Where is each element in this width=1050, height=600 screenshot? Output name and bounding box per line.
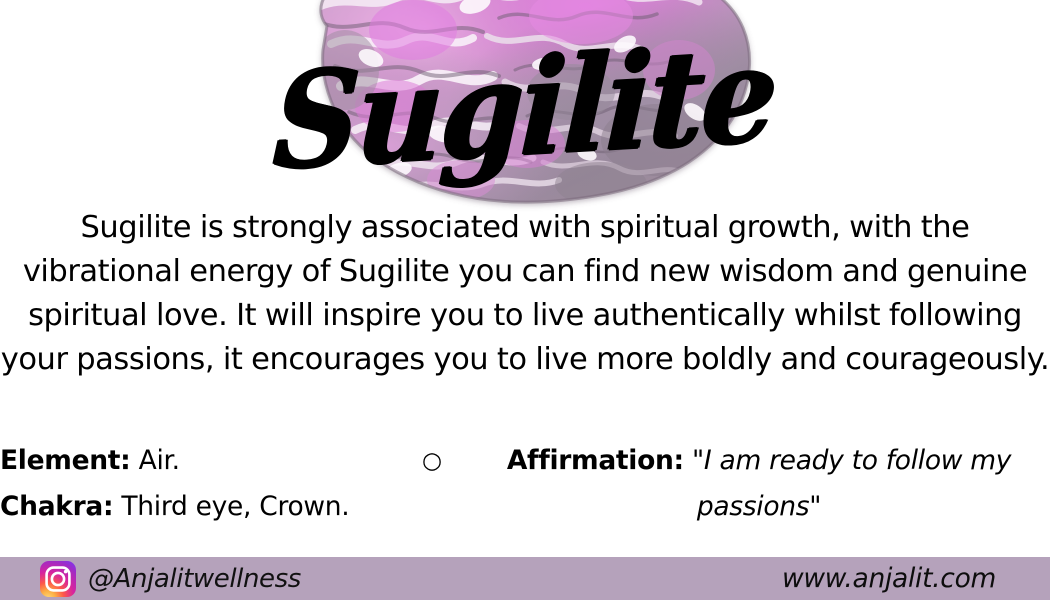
website-link[interactable]: www.anjalit.com: [782, 557, 996, 600]
sugilite-crystal-image: [275, 0, 775, 212]
properties-section: Element: Air. Chakra: Third eye, Crown. …: [0, 438, 1050, 534]
footer-bar: @Anjalitwellness www.anjalit.com: [0, 557, 1050, 600]
affirmation-value: "I am ready to follow my passions": [692, 445, 1011, 522]
instagram-handle[interactable]: @Anjalitwellness: [88, 557, 301, 600]
hero-section: Sugilite: [0, 0, 1050, 212]
chakra-value: Third eye, Crown.: [121, 491, 349, 522]
affirmation-label: Affirmation:: [507, 445, 684, 476]
website-link-text: www.anjalit.com: [782, 563, 996, 594]
instagram-handle-text: @Anjalitwellness: [88, 564, 301, 594]
affirmation-block: Affirmation: "I am ready to follow my pa…: [468, 438, 1050, 530]
crystal-info-card: Sugilite Sugilite is strongly associated…: [0, 0, 1050, 600]
chakra-row: Chakra: Third eye, Crown.: [0, 484, 410, 530]
bullet-icon: ○: [419, 444, 445, 478]
element-value: Air.: [139, 445, 180, 476]
instagram-icon[interactable]: [40, 561, 76, 597]
description-text: Sugilite is strongly associated with spi…: [0, 206, 1050, 382]
element-label: Element:: [0, 445, 130, 476]
properties-left-column: Element: Air. Chakra: Third eye, Crown.: [0, 438, 410, 530]
chakra-label: Chakra:: [0, 491, 113, 522]
element-row: Element: Air.: [0, 438, 410, 484]
